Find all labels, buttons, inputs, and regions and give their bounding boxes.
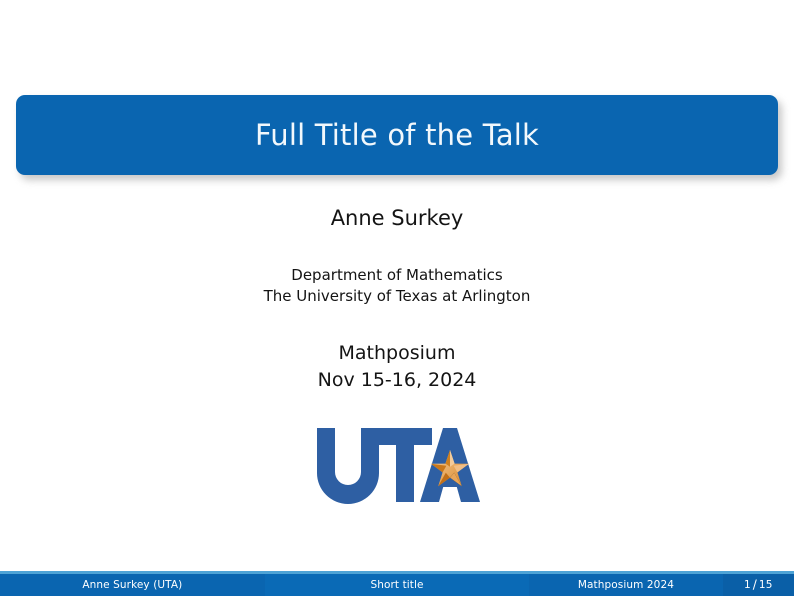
event-block: Mathposium Nov 15-16, 2024: [0, 340, 794, 394]
footer-short-title: Short title: [265, 574, 530, 596]
footer-author: Anne Surkey (UTA): [0, 574, 265, 596]
title-banner-background: Full Title of the Talk: [16, 95, 778, 175]
footer-page-separator: /: [753, 578, 757, 592]
footer-bar: Anne Surkey (UTA) Short title Mathposium…: [0, 574, 794, 596]
uta-logo-icon: [314, 424, 480, 506]
footer-page-number: 1 / 15: [723, 574, 794, 596]
institute-department: Department of Mathematics: [0, 265, 794, 286]
slide-canvas: Full Title of the Talk Anne Surkey Depar…: [0, 0, 794, 596]
footer-page-current: 1: [744, 579, 751, 591]
author-name: Anne Surkey: [0, 206, 794, 231]
event-name: Mathposium: [0, 340, 794, 367]
title-info-block: Anne Surkey Department of Mathematics Th…: [0, 206, 794, 394]
event-date: Nov 15-16, 2024: [0, 367, 794, 394]
footer-event: Mathposium 2024: [529, 574, 722, 596]
title-banner: Full Title of the Talk: [16, 95, 778, 175]
slide-title: Full Title of the Talk: [231, 121, 563, 150]
logo-letter-u: [317, 428, 379, 504]
institute-university: The University of Texas at Arlington: [0, 286, 794, 307]
footer-page-total: 15: [759, 579, 773, 591]
uta-logo: [314, 424, 480, 506]
institute-block: Department of Mathematics The University…: [0, 265, 794, 308]
